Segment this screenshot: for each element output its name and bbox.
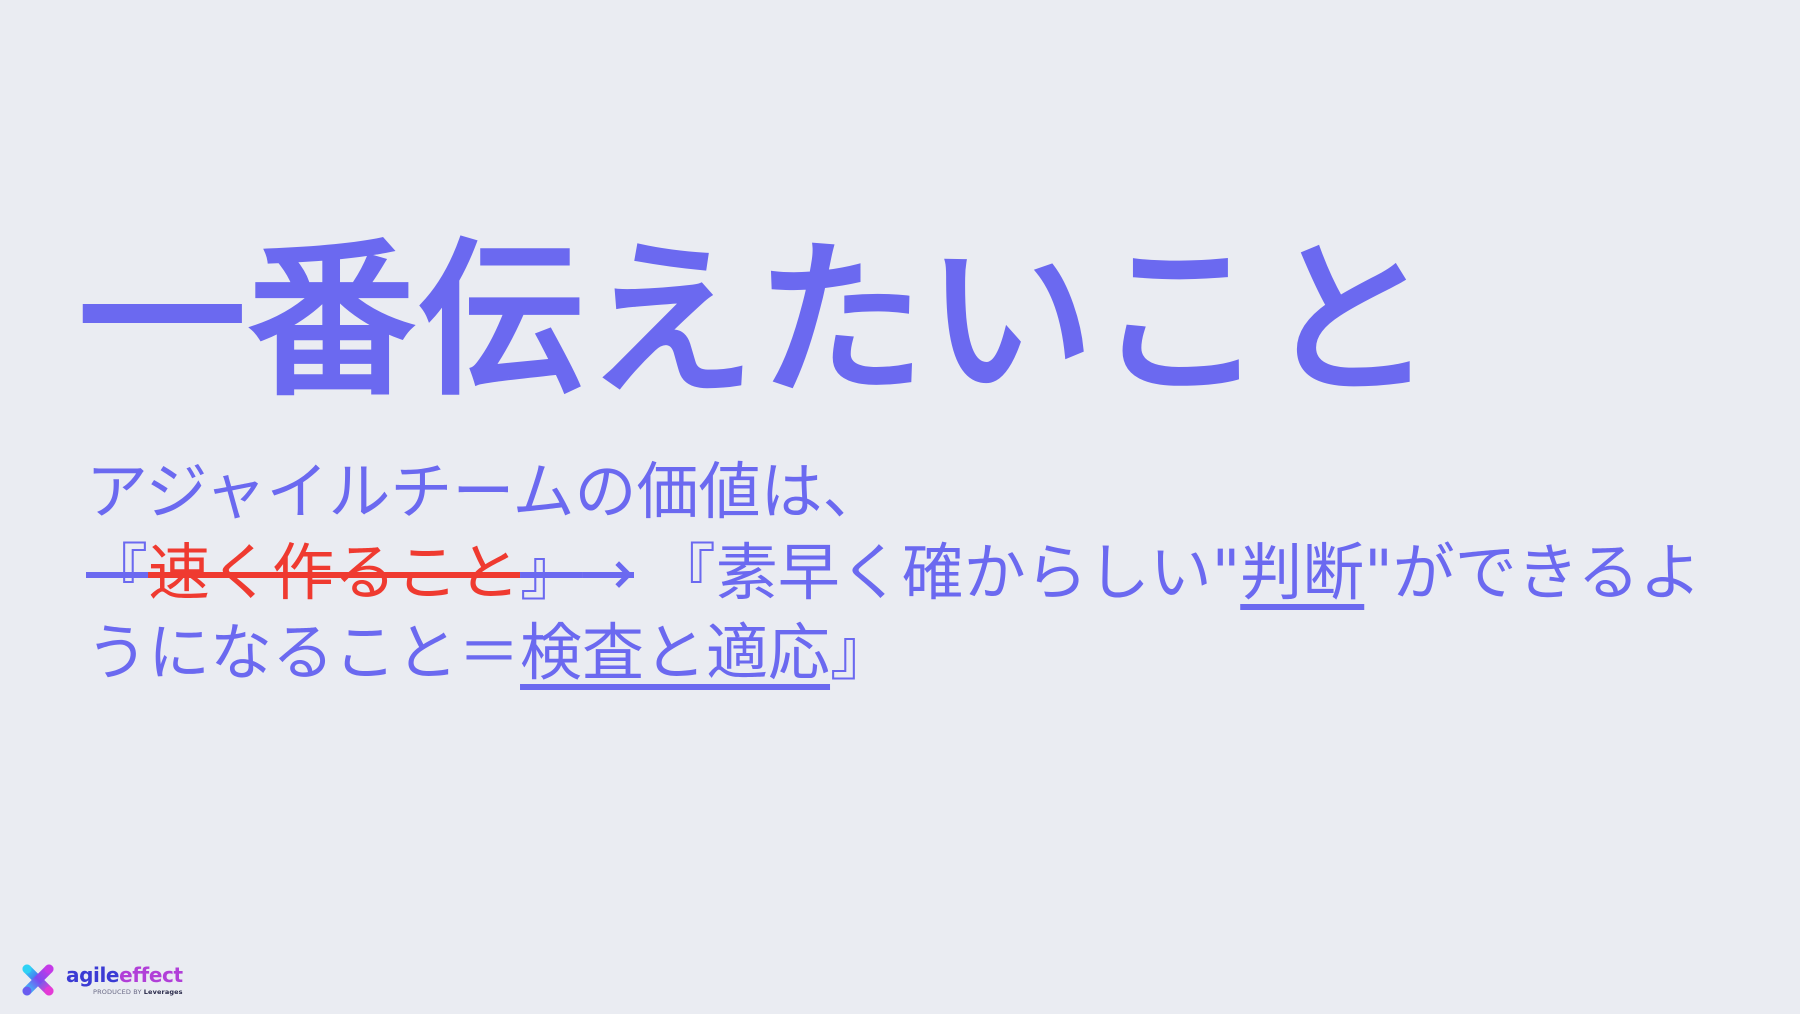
struck-close-bracket: 』 bbox=[520, 536, 582, 609]
brand-tagline-brand: Leverages bbox=[144, 988, 183, 996]
transition-arrow-icon: → bbox=[582, 536, 634, 609]
brand-tagline-prefix: PRODUCED BY bbox=[93, 988, 144, 996]
body-line-1: アジャイルチームの価値は、 bbox=[86, 452, 1506, 533]
body-line-2-rest-b: "ができるよ bbox=[1364, 536, 1701, 609]
agileeffect-x-mark-icon bbox=[18, 960, 58, 1000]
brand-tagline: PRODUCED BY Leverages bbox=[66, 989, 183, 996]
brand-logo: agileeffect PRODUCED BY Leverages bbox=[18, 960, 183, 1000]
page-title: 一番伝えたいこと bbox=[78, 236, 1435, 407]
struck-open-bracket: 『 bbox=[86, 536, 148, 609]
body-line-3: うになること＝検査と適応』 bbox=[86, 613, 1506, 694]
brand-wordmark: agileeffect bbox=[66, 965, 183, 985]
brand-logo-text: agileeffect PRODUCED BY Leverages bbox=[66, 965, 183, 996]
body-line-2: 『速く作ること』→ 『素早く確からしい"判断"ができるよ bbox=[86, 533, 1506, 614]
emphasis-judgement: 判断 bbox=[1240, 536, 1364, 609]
body-line-2-rest-a: 『素早く確からしい" bbox=[634, 536, 1240, 609]
body-line-3-b: 』 bbox=[830, 616, 892, 689]
struck-red-phrase: 速く作ること bbox=[148, 536, 520, 609]
body-line-3-a: うになること＝ bbox=[86, 616, 520, 689]
brand-word-agile: agile bbox=[66, 963, 119, 987]
slide-body: アジャイルチームの価値は、 『速く作ること』→ 『素早く確からしい"判断"ができ… bbox=[86, 452, 1506, 694]
slide-canvas: 一番伝えたいこと アジャイルチームの価値は、 『速く作ること』→ 『素早く確から… bbox=[0, 0, 1800, 1014]
body-line-1-text: アジャイルチームの価値は、 bbox=[86, 455, 885, 528]
emphasis-inspect-adapt: 検査と適応 bbox=[520, 616, 830, 689]
brand-word-effect: effect bbox=[119, 963, 183, 987]
